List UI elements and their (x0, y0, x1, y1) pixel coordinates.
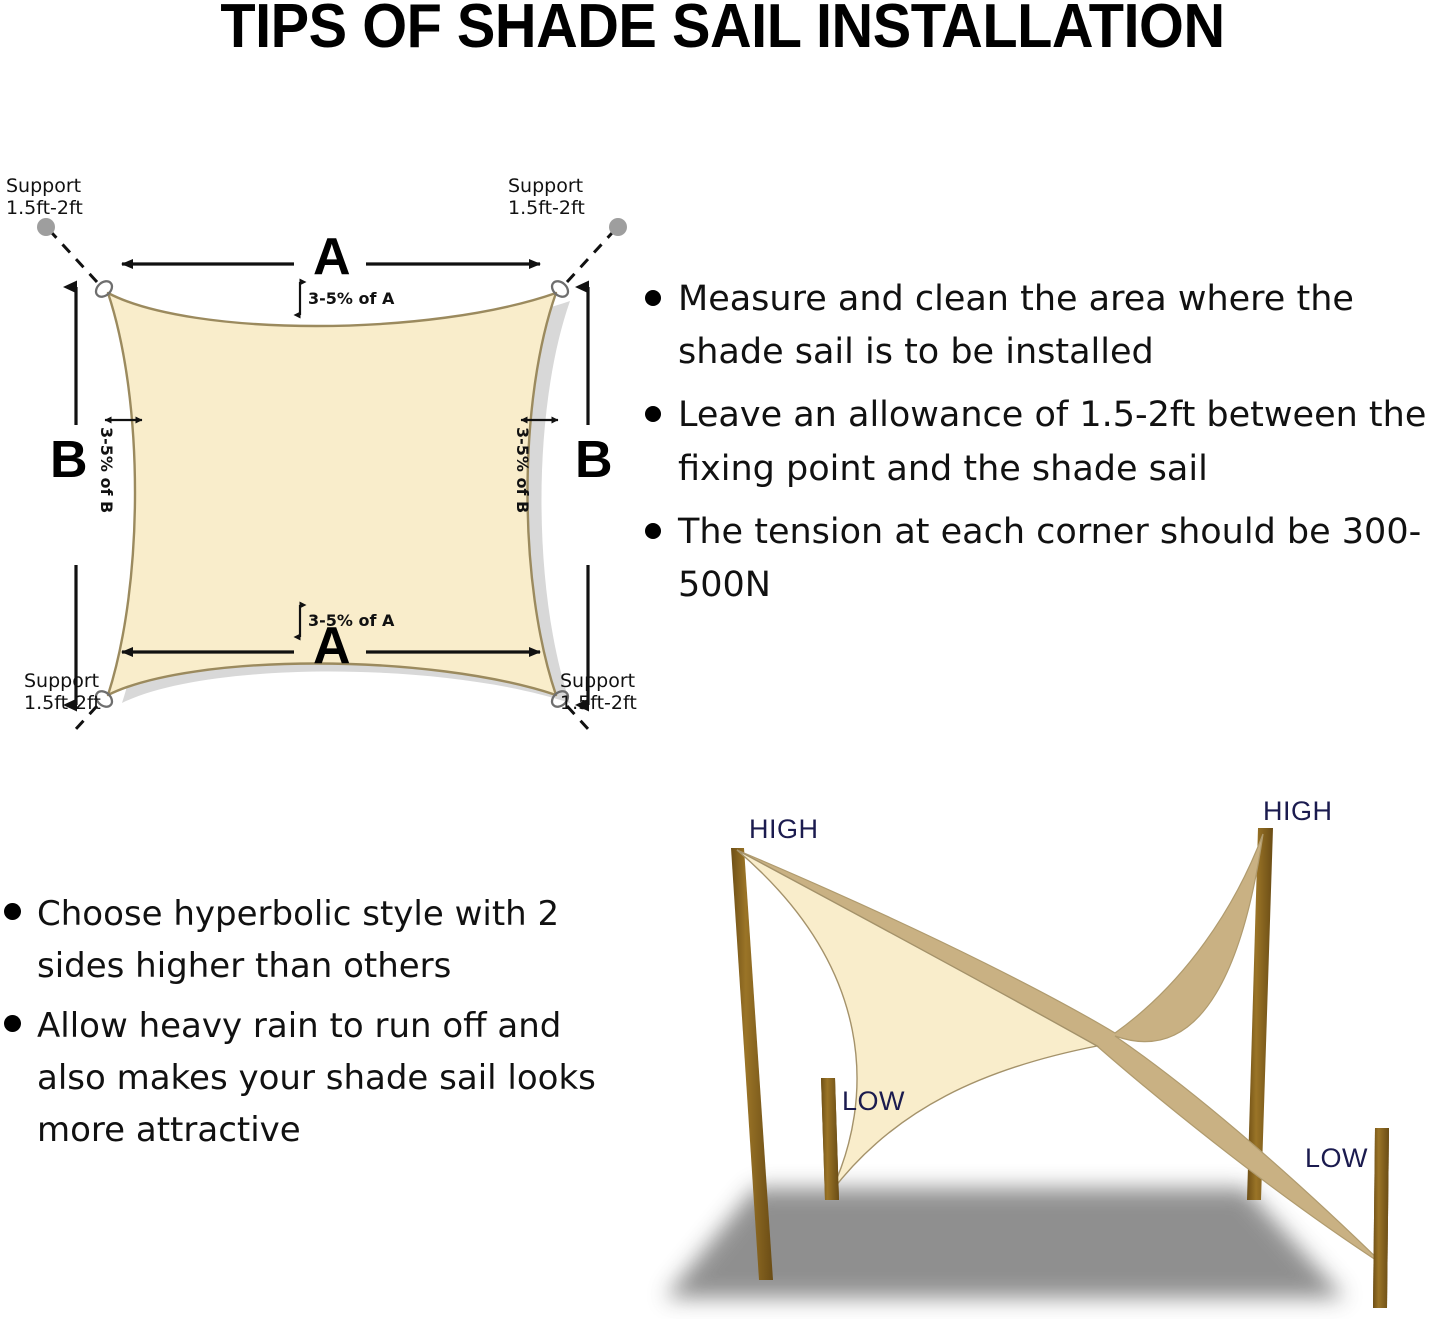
bullet-dot-icon (4, 903, 21, 920)
support-label-bottom-left-line1: Support (24, 670, 101, 692)
label-high-left: HIGH (749, 814, 819, 845)
dimension-letter-b-right: B (575, 434, 613, 486)
dimension-letter-a-top: A (313, 231, 351, 283)
tip-text: Leave an allowance of 1.5-2ft between th… (678, 389, 1445, 495)
support-label-bottom-left-line2: 1.5ft-2ft (24, 692, 101, 714)
post-low-right-front (1373, 1128, 1389, 1308)
dimension-letter-b-left: B (50, 434, 88, 486)
support-label-bottom-right-line2: 1.5ft-2ft (560, 692, 637, 714)
post-low-left-front (821, 1078, 839, 1200)
sag-label-top: 3-5% of A (308, 289, 394, 308)
tip-text: Choose hyperbolic style with 2 sides hig… (37, 888, 624, 992)
support-label-bottom-right-line1: Support (560, 670, 637, 692)
page-title: TIPS OF SHADE SAIL INSTALLATION (51, 0, 1395, 59)
support-label-top-left: Support 1.5ft-2ft (6, 175, 83, 220)
list-item: The tension at each corner should be 300… (645, 506, 1445, 612)
label-high-right: HIGH (1263, 796, 1333, 827)
bullet-dot-icon (645, 406, 661, 422)
bullet-dot-icon (645, 523, 661, 539)
bullet-dot-icon (645, 290, 661, 306)
sail-surface-light (737, 850, 1097, 1192)
support-label-top-right-line1: Support (508, 175, 585, 197)
tip-text: Allow heavy rain to run off and also mak… (37, 1000, 624, 1156)
support-label-top-left-line2: 1.5ft-2ft (6, 197, 83, 219)
list-item: Allow heavy rain to run off and also mak… (4, 1000, 624, 1156)
rect-sail-diagram: Support 1.5ft-2ft Support 1.5ft-2ft Supp… (0, 165, 660, 730)
sag-label-bottom: 3-5% of A (308, 611, 394, 630)
support-label-top-right: Support 1.5ft-2ft (508, 175, 585, 220)
support-label-bottom-left: Support 1.5ft-2ft (24, 670, 101, 715)
label-low-left: LOW (842, 1086, 905, 1117)
list-item: Choose hyperbolic style with 2 sides hig… (4, 888, 624, 992)
sag-label-left: 3-5% of B (97, 427, 116, 513)
infographic-page: TIPS OF SHADE SAIL INSTALLATION (0, 0, 1445, 1319)
hyperbolic-sail-svg (645, 768, 1445, 1319)
list-item: Measure and clean the area where the sha… (645, 273, 1445, 379)
hyperbolic-sail-illustration: HIGH HIGH LOW LOW (645, 768, 1445, 1319)
sag-label-right: 3-5% of B (513, 427, 532, 513)
label-low-right: LOW (1305, 1143, 1368, 1174)
tips-list-left: Choose hyperbolic style with 2 sides hig… (4, 888, 624, 1164)
support-label-top-left-line1: Support (6, 175, 83, 197)
tip-text: Measure and clean the area where the sha… (678, 273, 1445, 379)
bullet-dot-icon (4, 1015, 21, 1032)
tip-text: The tension at each corner should be 300… (678, 506, 1445, 612)
support-label-top-right-line2: 1.5ft-2ft (508, 197, 585, 219)
list-item: Leave an allowance of 1.5-2ft between th… (645, 389, 1445, 495)
tips-list-right: Measure and clean the area where the sha… (645, 273, 1445, 622)
support-label-bottom-right: Support 1.5ft-2ft (560, 670, 637, 715)
